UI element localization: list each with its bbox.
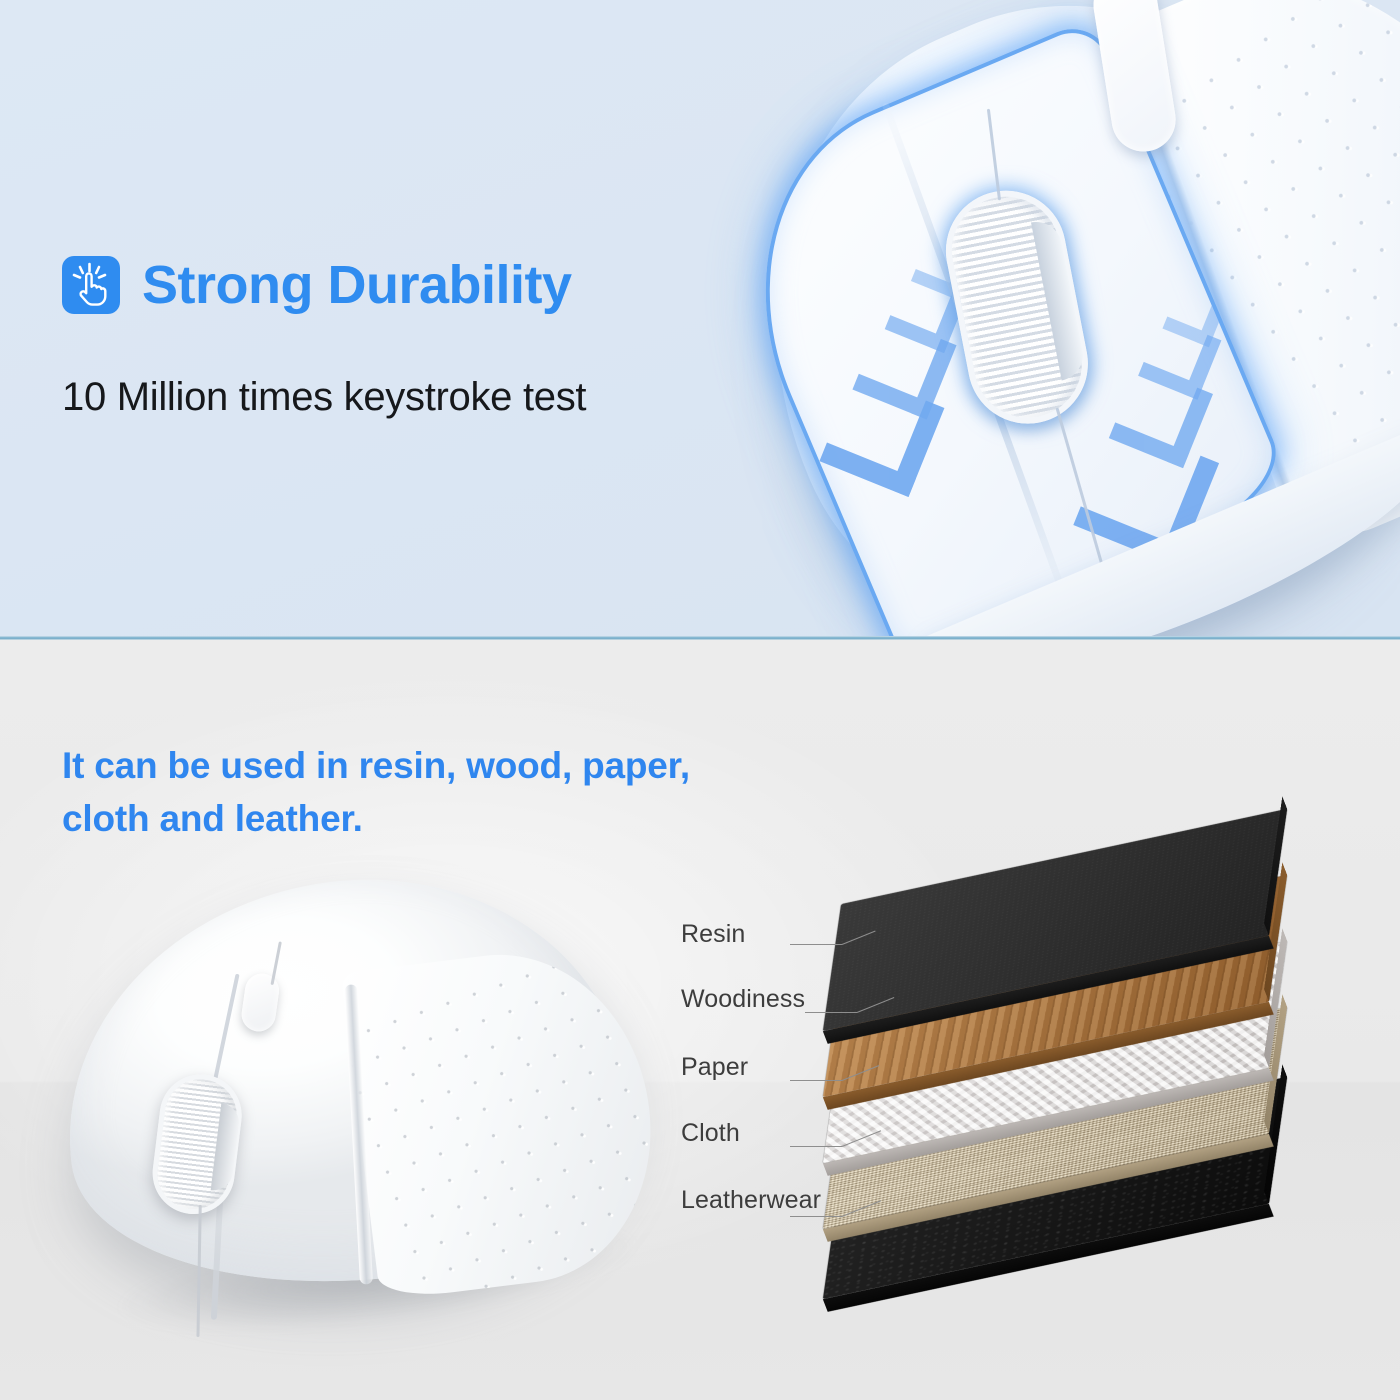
durability-subtitle: 10 Million times keystroke test <box>62 375 586 420</box>
mouse-closeup-image <box>573 0 1400 638</box>
durability-section: Strong Durability 10 Million times keyst… <box>0 0 1400 638</box>
product-feature-page: Strong Durability 10 Million times keyst… <box>0 0 1400 1400</box>
materials-heading-line1: It can be used in resin, wood, paper, <box>62 745 690 786</box>
mouse-palm-rest <box>340 938 668 1301</box>
material-stack <box>820 810 1400 1330</box>
page-title: Strong Durability <box>142 258 572 312</box>
materials-heading-line2: cloth and leather. <box>62 798 363 839</box>
materials-heading: It can be used in resin, wood, paper, cl… <box>62 740 882 845</box>
side-grip-texture <box>340 943 668 1301</box>
durability-headline: Strong Durability <box>62 256 572 314</box>
mouse-isometric-image <box>29 827 691 1358</box>
click-finger-icon <box>62 256 120 314</box>
